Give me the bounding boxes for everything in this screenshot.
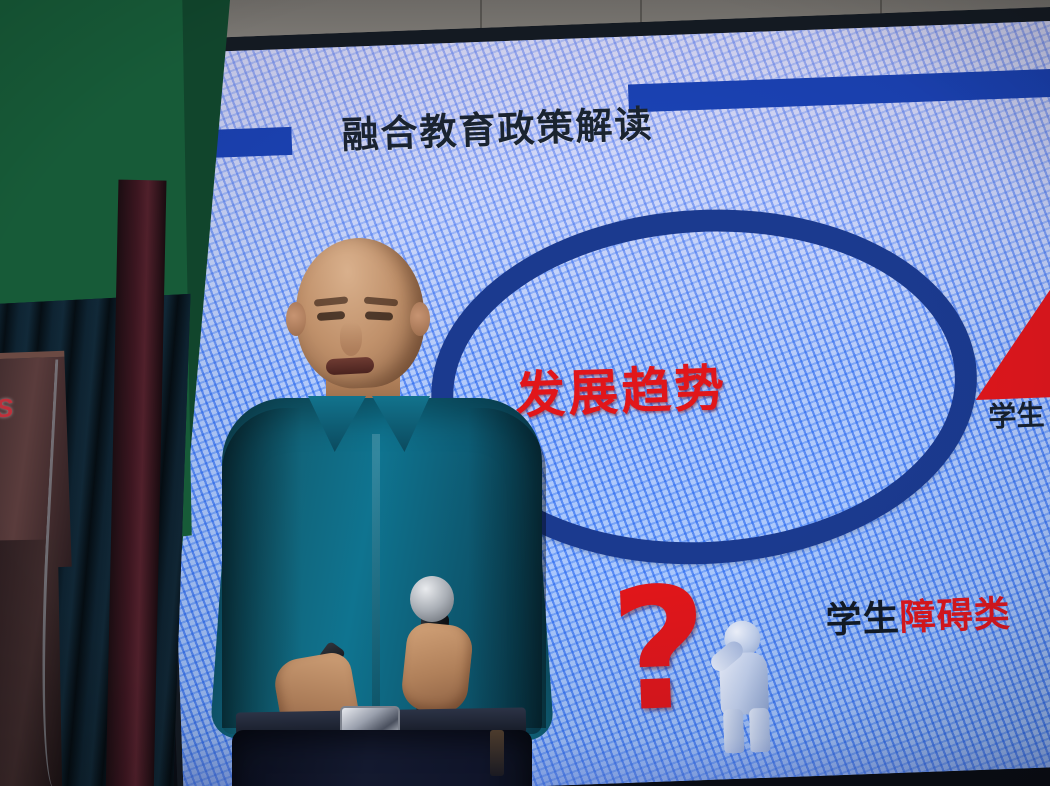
speaker-keys [490, 730, 504, 776]
shirt-placket [372, 434, 380, 734]
thinking-figure-icon [712, 620, 779, 752]
callout-label-top-right: 学生 [988, 393, 1045, 435]
title-bar-right [628, 68, 1050, 113]
red-triangle-icon [971, 279, 1050, 400]
podium-logo: S [0, 391, 41, 430]
photo-stage: 融合教育政策解读 发展趋势 学生 ? 学生障碍类 [0, 0, 1050, 786]
speaker-ear-right [410, 302, 430, 336]
callout-text-red: 障碍类 [899, 594, 1011, 639]
shirt-shadow-right [468, 408, 546, 728]
speaker-eye-right [365, 311, 393, 320]
question-mark-icon: ? [608, 564, 712, 735]
speaker-nose [340, 322, 362, 356]
speaker-mouth [326, 357, 375, 375]
callout-text-black: 学生 [825, 598, 900, 642]
speaker-hand-right [400, 621, 475, 715]
speaker-trousers [232, 730, 532, 786]
microphone-head-icon [410, 576, 454, 622]
ellipse-label: 发展趋势 [514, 348, 728, 428]
speaker-ear-left [286, 302, 306, 336]
speaker-person [222, 238, 542, 786]
slide-title: 融合教育政策解读 [341, 94, 655, 159]
callout-label-bottom-right: 学生障碍类 [825, 585, 1012, 644]
